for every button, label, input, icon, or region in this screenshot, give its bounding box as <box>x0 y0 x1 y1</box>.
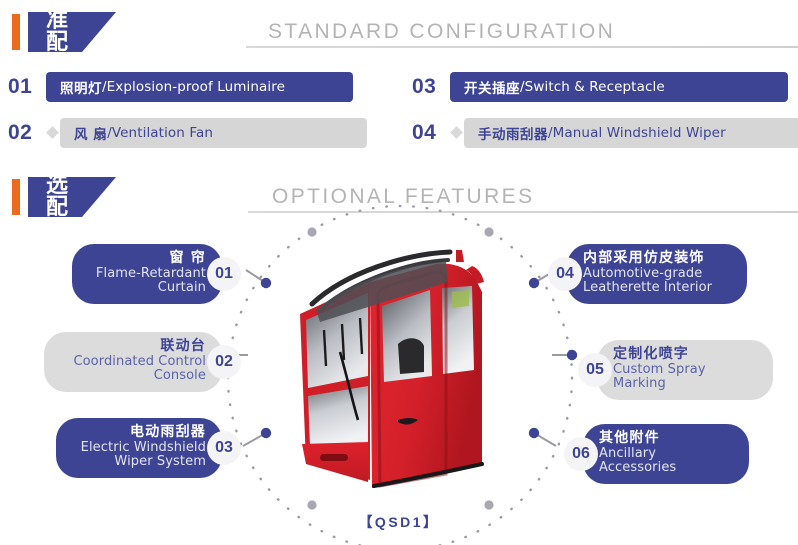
feature-label-en-1: Coordinated Control <box>73 355 206 370</box>
cabin-seat <box>398 338 424 374</box>
ring-node-06 <box>529 428 539 438</box>
feature-pill[interactable]: 电动雨刮器 Electric Windshield Wiper System <box>56 418 222 478</box>
ring-node-01 <box>261 278 271 288</box>
feature-label-en-2: Curtain <box>158 281 206 296</box>
feature-callout-02[interactable]: 联动台 Coordinated Control Console 02 <box>44 332 241 392</box>
feature-callout-05[interactable]: 05 定制化喷字 Custom Spray Marking <box>578 340 773 400</box>
product-model-caption: 【QSD1】 <box>0 512 798 532</box>
feature-label-en-1: Flame-Retardant <box>96 267 206 282</box>
cabin-rear-skirt <box>302 442 368 482</box>
ring-node-04 <box>529 278 539 288</box>
cabin-roof-mount <box>456 250 464 262</box>
feature-label-en-1: Electric Windshield <box>81 441 206 456</box>
feature-label-zh: 其他附件 <box>599 431 660 447</box>
feature-badge: 06 <box>564 437 598 471</box>
feature-label-en-2: Console <box>154 369 206 384</box>
feature-label-zh: 内部采用仿皮装饰 <box>583 251 705 267</box>
feature-badge: 03 <box>207 431 241 465</box>
feature-pill[interactable]: 内部采用仿皮装饰 Automotive-grade Leatherette In… <box>567 244 747 304</box>
feature-badge: 02 <box>207 345 241 379</box>
feature-label-zh: 定制化喷字 <box>613 347 689 363</box>
feature-pill[interactable]: 联动台 Coordinated Control Console <box>44 332 222 392</box>
feature-label-zh: 窗 帘 <box>170 251 206 267</box>
ring-node-03 <box>261 428 271 438</box>
feature-badge: 05 <box>578 353 612 387</box>
cabin-vent-slot <box>320 454 348 461</box>
ring-dot-top-left <box>307 227 316 236</box>
feature-badge: 04 <box>548 257 582 291</box>
feature-callout-03[interactable]: 电动雨刮器 Electric Windshield Wiper System 0… <box>56 418 241 478</box>
feature-label-en-1: Ancillary Accessories <box>599 447 733 476</box>
product-image-cabin <box>286 248 514 506</box>
ring-dot-top-right <box>484 227 493 236</box>
ring-node-05 <box>567 350 577 360</box>
feature-label-en-1: Automotive-grade <box>583 267 702 282</box>
feature-pill[interactable]: 其他附件 Ancillary Accessories <box>583 424 749 484</box>
feature-label-en-2: Wiper System <box>114 455 206 470</box>
feature-pill[interactable]: 窗 帘 Flame-Retardant Curtain <box>72 244 222 304</box>
feature-badge: 01 <box>207 257 241 291</box>
feature-callout-01[interactable]: 窗 帘 Flame-Retardant Curtain 01 <box>72 244 241 304</box>
product-spec-page: 标准配置 STANDARD CONFIGURATION 01 照明灯/Explo… <box>0 0 798 545</box>
feature-callout-04[interactable]: 04 内部采用仿皮装饰 Automotive-grade Leatherette… <box>548 244 747 304</box>
feature-label-zh: 联动台 <box>160 339 206 355</box>
feature-label-zh: 电动雨刮器 <box>130 425 206 441</box>
feature-label-en-1: Custom Spray Marking <box>613 363 757 392</box>
cabin-rear-lower-window <box>308 386 368 446</box>
feature-label-en-2: Leatherette Interior <box>583 281 712 296</box>
feature-callout-06[interactable]: 06 其他附件 Ancillary Accessories <box>564 424 749 484</box>
feature-pill[interactable]: 定制化喷字 Custom Spray Marking <box>597 340 773 400</box>
cabin-interior-trim <box>452 290 469 308</box>
